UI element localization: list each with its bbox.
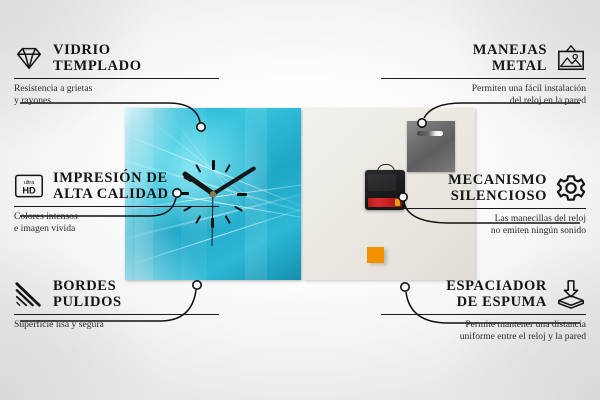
feature-desc-line2: y rayones [14,95,219,107]
feature-title-line2: TEMPLADO [53,58,142,74]
polished-edges-icon [14,279,44,309]
feature-title-line1: VIDRIO [53,42,142,58]
feature-divider [381,314,586,315]
feature-manejas-metal: MANEJAS METAL Permiten una fácil instala… [381,42,586,107]
feature-desc-line1: Permite mantener una distancia [381,319,586,331]
picture-frame-hanger-icon [556,43,586,73]
feature-espaciador-espuma: ESPACIADOR DE ESPUMA Permite mantener un… [381,278,586,343]
feature-bordes-pulidos: BORDES PULIDOS Superficie lisa y segura [14,278,219,331]
diamond-icon [14,43,44,73]
infographic-canvas: VIDRIO TEMPLADO Resistencia a grietas y … [0,0,600,400]
feature-divider [381,208,586,209]
feature-title-line2: PULIDOS [53,294,122,310]
feature-title-line2: DE ESPUMA [446,294,547,310]
feature-desc-line1: Colores intensos [14,211,219,223]
feature-impresion-alta-calidad: ultra HD IMPRESIÓN DE ALTA CALIDAD Color… [14,170,219,235]
feature-desc-line1: Superficie lisa y segura [14,319,219,331]
feature-title-line2: ALTA CALIDAD [53,186,169,202]
feature-desc-line1: Las manecillas del reloj [381,213,586,225]
feature-title-line1: MANEJAS [473,42,547,58]
feature-desc-line2: no emiten ningún sonido [381,225,586,237]
feature-title-line1: ESPACIADOR [446,278,547,294]
feature-title-line1: MECANISMO [448,172,547,188]
feature-title-line2: METAL [473,58,547,74]
feature-divider [14,206,219,207]
feature-desc-line2: e imagen vívida [14,223,219,235]
feature-desc-line1: Permiten una fácil instalación [381,83,586,95]
feature-divider [381,78,586,79]
feature-title-line1: IMPRESIÓN DE [53,170,169,186]
feature-title-line2: SILENCIOSO [448,188,547,204]
feature-desc-line2: del reloj en la pared [381,95,586,107]
feature-divider [14,314,219,315]
foam-spacer-arrow-icon [556,279,586,309]
feature-mecanismo-silencioso: MECANISMO SILENCIOSO Las manecillas del … [381,172,586,237]
ultra-hd-bottom-text: HD [22,186,36,196]
feature-vidrio-templado: VIDRIO TEMPLADO Resistencia a grietas y … [14,42,219,107]
feature-divider [14,78,219,79]
feature-desc-line1: Resistencia a grietas [14,83,219,95]
gear-icon [556,173,586,203]
ultra-hd-badge-icon: ultra HD [14,171,44,201]
feature-title-line1: BORDES [53,278,122,294]
feature-desc-line2: uniforme entre el reloj y la pared [381,331,586,343]
